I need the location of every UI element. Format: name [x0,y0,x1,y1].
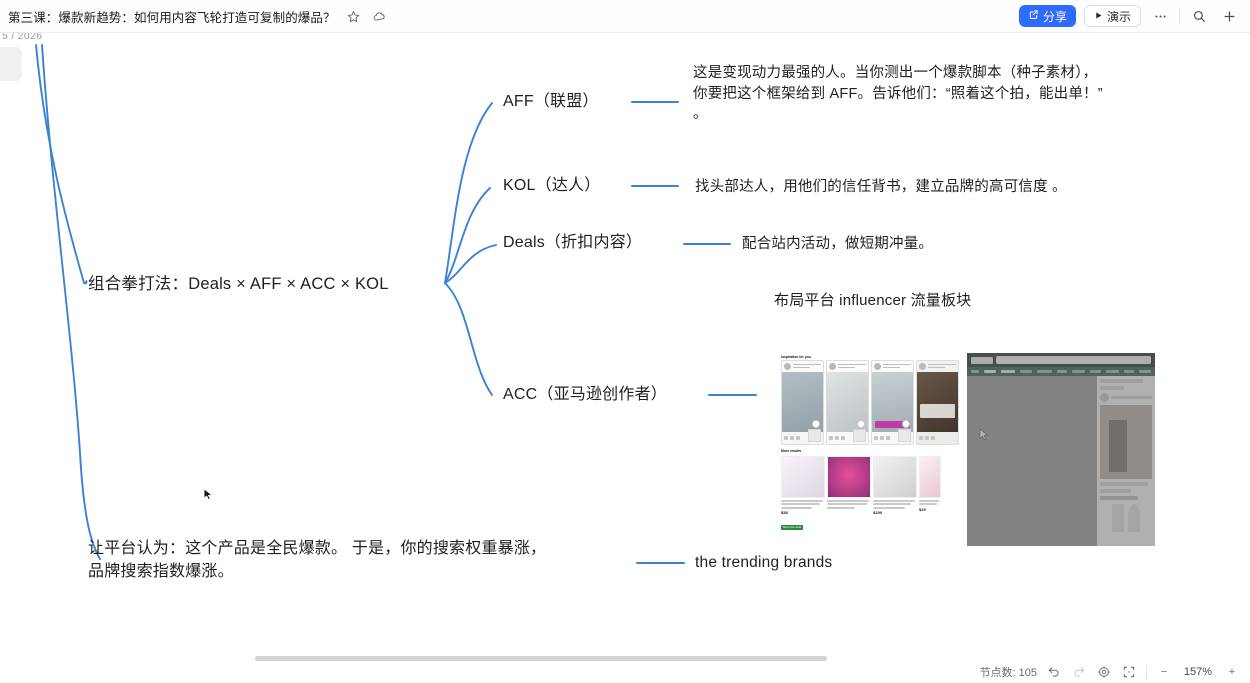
video-card[interactable] [781,360,824,445]
amazon-sub-nav [967,367,1155,376]
product-badge: Shop the deal [781,525,803,530]
toolbar-actions: 分享 演示 [1019,5,1250,27]
amazon-logo [971,357,993,364]
mouse-cursor-icon [202,486,215,503]
amazon-page-body [967,376,1155,546]
video-card[interactable] [916,360,959,445]
product-price: $38 [781,510,825,515]
redo-icon[interactable] [1071,664,1087,680]
node-branch-acc[interactable]: ACC（亚马逊创作者） [503,384,667,407]
product-card-row: $38 Shop the deal $159 $29 [778,456,962,533]
node-acc-heading[interactable]: 布局平台 influencer 流量板块 [774,290,971,311]
title-bar: 第三课：爆款新趋势：如何用内容飞轮打造可复制的爆品？ 分享 [0,0,1250,33]
mindmap-canvas[interactable]: 组合拳打法：Deals × AFF × ACC × KOL AFF（联盟） 这是… [0,33,1250,661]
node-desc-kol[interactable]: 找头部达人，用他们的信任背书，建立品牌的高可信度 。 [695,177,1235,198]
external-link-icon [1028,9,1039,23]
document-title[interactable]: 第三课：爆款新趋势：如何用内容飞轮打造可复制的爆品？ [8,7,336,26]
zoom-in-button[interactable]: + [1224,664,1240,680]
cloud-sync-icon[interactable] [372,8,388,24]
comment-icon[interactable] [857,420,865,428]
present-button[interactable]: 演示 [1084,5,1141,27]
node-bottom-summary[interactable]: 让平台认为：这个产品是全民爆款。 于是，你的搜索权重暴涨， 品牌搜索指数爆涨。 [88,538,618,583]
node-root[interactable]: 组合拳打法：Deals × AFF × ACC × KOL [88,273,389,296]
node-desc-deals[interactable]: 配合站内活动，做短期冲量。 [742,234,1162,255]
toolbar-divider [1179,8,1180,24]
share-label: 分享 [1043,8,1067,25]
video-card[interactable] [871,360,914,445]
more-results-title: More results [778,447,962,454]
caption-overlay [920,404,955,418]
comment-icon[interactable] [902,420,910,428]
product-card[interactable]: $29 [919,456,941,533]
more-horizontal-icon[interactable] [1149,5,1171,27]
zoom-level-label[interactable]: 157% [1181,666,1215,678]
comment-icon[interactable] [812,420,820,428]
node-branch-deals[interactable]: Deals（折扣内容） [503,232,642,255]
product-card[interactable] [827,456,871,533]
fit-screen-icon[interactable] [1121,664,1137,680]
video-card[interactable] [826,360,869,445]
focus-target-icon[interactable] [1096,664,1112,680]
pointer-cursor-icon [977,428,991,442]
shop-by-interest-panel[interactable] [1097,376,1155,546]
status-divider [1146,666,1147,679]
status-bar: 节点数: 105 − 157% + [0,661,1250,683]
node-desc-aff[interactable]: 这是变现动力最强的人。当你测出一个爆款脚本（种子素材）， 你要把这个框架给到 A… [693,63,1241,125]
node-branch-aff[interactable]: AFF（联盟） [503,91,599,114]
product-price: $159 [873,510,917,515]
node-branch-kol[interactable]: KOL（达人） [503,175,600,198]
plus-icon[interactable] [1218,5,1240,27]
creator-profile[interactable] [1100,393,1152,402]
node-count-label: 节点数: 105 [980,664,1037,680]
star-icon[interactable] [346,8,362,24]
amazon-search-input[interactable] [996,356,1151,364]
creator-photo[interactable] [1100,405,1152,479]
play-icon [1094,9,1103,23]
inspiration-section-title: Inspiration for you [778,353,962,360]
mindmap-app: 第三课：爆款新趋势：如何用内容飞轮打造可复制的爆品？ 分享 [0,0,1250,683]
product-card[interactable]: $159 [873,456,917,533]
embedded-screenshot-inspiration-feed[interactable]: Inspiration for you [778,353,962,546]
zoom-out-button[interactable]: − [1156,664,1172,680]
product-thumb[interactable] [808,429,821,442]
product-price: $29 [919,507,941,512]
embedded-screenshot-amazon-dimmed[interactable] [967,353,1155,546]
video-card-row [778,360,962,445]
outfit-product-thumbs[interactable] [1100,504,1152,532]
left-edge-chip[interactable] [0,47,22,81]
product-card[interactable]: $38 Shop the deal [781,456,825,533]
avatar [784,363,791,370]
undo-icon[interactable] [1046,664,1062,680]
amazon-top-nav [967,353,1155,367]
search-icon[interactable] [1188,5,1210,27]
node-trending-brands[interactable]: the trending brands [695,552,832,574]
present-label: 演示 [1107,8,1131,25]
share-button[interactable]: 分享 [1019,5,1076,27]
